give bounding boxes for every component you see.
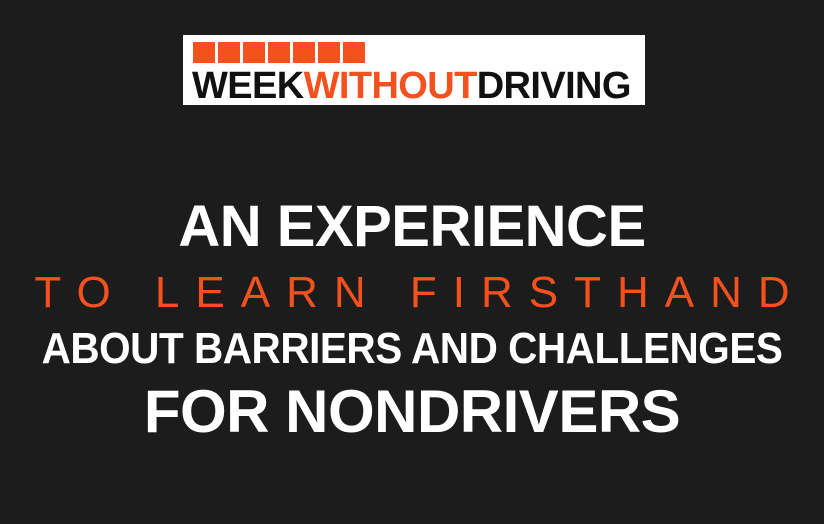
headline-line-about-barriers-and-challenges: ABOUT BARRIERS AND CHALLENGES — [33, 324, 791, 374]
headline-line-for-nondrivers: FOR NONDRIVERS — [0, 378, 824, 446]
logo-square-7 — [343, 42, 365, 63]
logo-square-1 — [193, 42, 215, 63]
logo-square-5 — [293, 42, 315, 63]
headline-line-an-experience: AN EXPERIENCE — [0, 196, 824, 258]
logo-wordmark-week: WEEK — [192, 65, 304, 107]
logo-square-2 — [218, 42, 240, 63]
logo-square-3 — [243, 42, 265, 63]
logo-wordmark: WEEKWITHOUTDRIVING — [192, 66, 631, 106]
week-without-driving-logo: WEEKWITHOUTDRIVING — [183, 35, 645, 105]
headline-line-to-learn-firsthand: TO LEARN FIRSTHAND — [0, 264, 824, 322]
logo-square-6 — [318, 42, 340, 63]
poster-slide: WEEKWITHOUTDRIVING AN EXPERIENCE TO LEAR… — [0, 0, 824, 524]
logo-squares-row — [193, 42, 365, 63]
logo-square-4 — [268, 42, 290, 63]
logo-wordmark-driving: DRIVING — [477, 65, 631, 107]
headline-block: AN EXPERIENCE TO LEARN FIRSTHAND ABOUT B… — [0, 196, 824, 446]
logo-wordmark-without: WITHOUT — [304, 65, 477, 107]
